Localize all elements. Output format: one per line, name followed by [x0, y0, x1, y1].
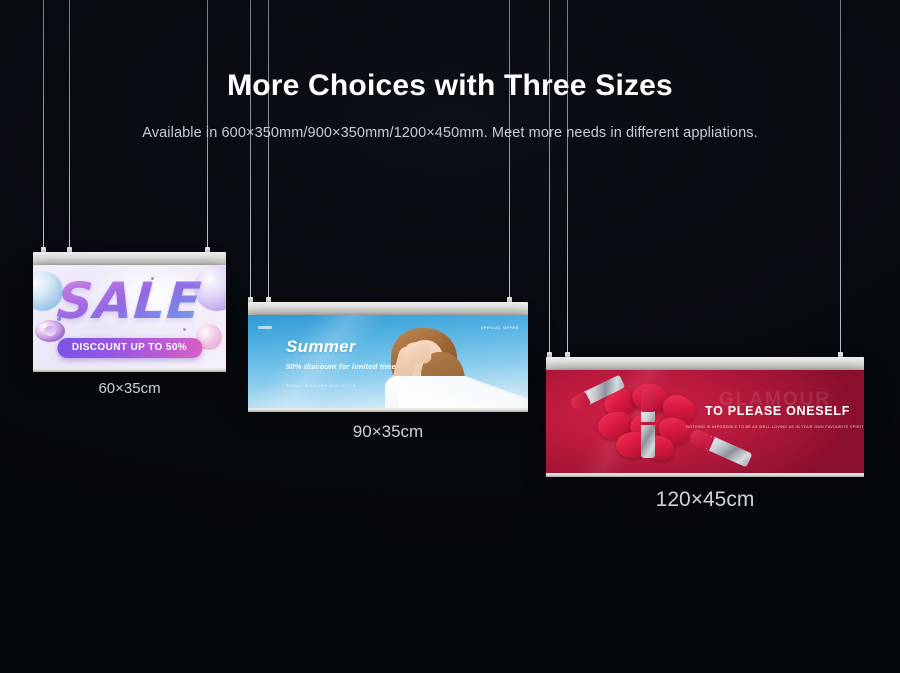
- sale-headline: SALE: [33, 276, 226, 326]
- panel-mounting-rail: [33, 252, 226, 265]
- page-subtitle: Available in 600×350mm/900×350mm/1200×45…: [0, 125, 900, 141]
- lipstick-tip: [641, 388, 655, 412]
- panel-screen[interactable]: SPECIAL OFFER Summer 50% discount for li…: [248, 315, 528, 408]
- snow-slope: [399, 376, 528, 408]
- summer-subhead: 50% discount for limited time: [286, 362, 396, 371]
- display-panel-rose[interactable]: GLAMOUR TO PLEASE ONESELF NOTHING IS IMP…: [546, 357, 864, 537]
- summer-copy-block: Summer 50% discount for limited time Tod…: [286, 338, 396, 388]
- creative-sale: SALE DISCOUNT UP TO 50%: [33, 265, 226, 368]
- panel-mounting-rail: [248, 302, 528, 315]
- panel-size-label: 120×45cm: [546, 488, 864, 512]
- brand-mark-icon: [258, 326, 272, 329]
- creative-rose: GLAMOUR TO PLEASE ONESELF NOTHING IS IMP…: [546, 370, 864, 473]
- panel-screen[interactable]: GLAMOUR TO PLEASE ONESELF NOTHING IS IMP…: [546, 370, 864, 473]
- suspension-cable: [250, 0, 251, 302]
- heading-block: More Choices with Three Sizes Available …: [0, 68, 900, 141]
- suspension-cable: [840, 0, 841, 357]
- panel-bottom-edge: [33, 368, 226, 372]
- panel-bottom-edge: [248, 408, 528, 412]
- lipstick-center: [638, 388, 658, 460]
- creative-summer: SPECIAL OFFER Summer 50% discount for li…: [248, 315, 528, 408]
- panel-size-label: 90×35cm: [248, 422, 528, 442]
- lipstick-barrel: [641, 408, 655, 458]
- rose-divider: NOTHING IS IMPOSSIBLE TO BE AS WELL-LOVI…: [705, 425, 845, 429]
- discount-badge: DISCOUNT UP TO 50%: [57, 338, 202, 358]
- page-title: More Choices with Three Sizes: [0, 68, 900, 104]
- lipstick-band: [641, 422, 655, 425]
- summer-headline: Summer: [286, 338, 396, 357]
- rose-copy-block: GLAMOUR TO PLEASE ONESELF NOTHING IS IMP…: [705, 404, 845, 429]
- suspension-cable: [567, 0, 568, 357]
- summer-meta: Today · Exclusive deal online: [286, 383, 396, 388]
- display-panel-summer[interactable]: SPECIAL OFFER Summer 50% discount for li…: [248, 302, 528, 467]
- suspension-cable: [268, 0, 269, 302]
- panel-size-label: 60×35cm: [33, 380, 226, 397]
- panel-screen[interactable]: SALE DISCOUNT UP TO 50%: [33, 265, 226, 368]
- suspension-cable: [509, 0, 510, 302]
- model-hand: [404, 341, 432, 366]
- panel-bottom-edge: [546, 473, 864, 477]
- panel-mounting-rail: [546, 357, 864, 370]
- scene-backdrop: More Choices with Three Sizes Available …: [0, 0, 900, 673]
- rose-subhead: NOTHING IS IMPOSSIBLE TO BE AS WELL-LOVI…: [686, 425, 863, 429]
- display-panel-sale[interactable]: SALE DISCOUNT UP TO 50% 60×35cm: [33, 252, 226, 417]
- rose-headline: TO PLEASE ONESELF: [705, 404, 845, 418]
- suspension-cable: [549, 0, 550, 357]
